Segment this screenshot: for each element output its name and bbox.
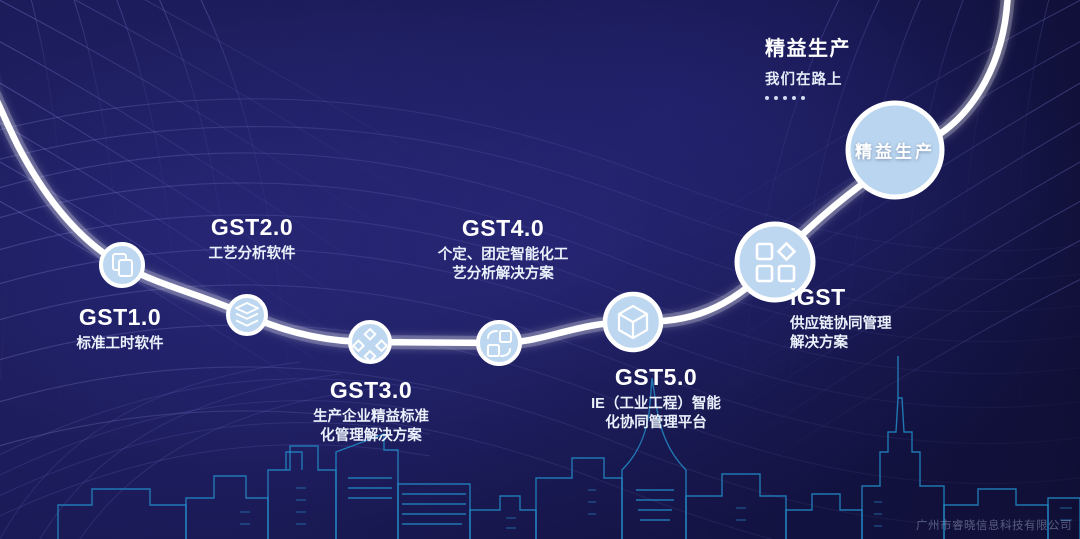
gst4-subtitle-line-2: 艺分析解决方案: [438, 265, 569, 284]
igst-subtitle-line-2: 解决方案: [790, 334, 892, 353]
milestone-label-gst3[interactable]: GST3.0 生产企业精益标准 化管理解决方案: [313, 378, 429, 447]
node-gst4[interactable]: [478, 322, 520, 364]
node-gst5[interactable]: [605, 294, 661, 350]
gst3-subtitle-line-1: 生产企业精益标准: [313, 408, 429, 427]
milestone-label-gst2[interactable]: GST2.0 工艺分析软件: [209, 215, 296, 264]
gst5-subtitle-line-2: 化协同管理平台: [591, 414, 721, 433]
lean-subheading: 我们在路上: [765, 68, 851, 89]
milestone-label-gst5[interactable]: GST5.0 IE（工业工程）智能 化协同管理平台: [591, 365, 721, 434]
lean-heading: 精益生产: [765, 32, 851, 61]
gst5-title: GST5.0: [591, 365, 721, 390]
node-gst2[interactable]: [228, 296, 266, 334]
node-gst1[interactable]: [101, 244, 143, 286]
gst3-subtitle-line-2: 化管理解决方案: [313, 427, 429, 446]
gst3-title: GST3.0: [313, 378, 429, 403]
gst4-subtitle-line-1: 个定、团定智能化工: [438, 246, 569, 265]
lean-dots: [765, 96, 851, 100]
gst2-title: GST2.0: [209, 215, 296, 240]
gst5-subtitle-line-1: IE（工业工程）智能: [591, 395, 721, 414]
node-gst3[interactable]: [350, 322, 390, 362]
milestone-label-igst[interactable]: iGST 供应链协同管理 解决方案: [790, 285, 892, 354]
infographic-roadmap: 精益生产 精益生产 我们在路上 GST1.0 标准工时软件 GST2.0 工艺分…: [0, 0, 1080, 539]
gst4-title: GST4.0: [438, 216, 569, 241]
milestone-label-gst1[interactable]: GST1.0 标准工时软件: [77, 305, 164, 354]
lean-production-circle-label: 精益生产: [855, 138, 935, 163]
gst2-subtitle-line-1: 工艺分析软件: [209, 245, 296, 264]
lean-production-text-block: 精益生产 我们在路上: [765, 32, 851, 100]
milestone-label-gst4[interactable]: GST4.0 个定、团定智能化工 艺分析解决方案: [438, 216, 569, 285]
igst-title: iGST: [790, 285, 892, 310]
gst1-title: GST1.0: [77, 305, 164, 330]
company-watermark: 广州市睿晓信息科技有限公司: [916, 517, 1072, 533]
igst-subtitle-line-1: 供应链协同管理: [790, 315, 892, 334]
gst1-subtitle-line-1: 标准工时软件: [77, 335, 164, 354]
